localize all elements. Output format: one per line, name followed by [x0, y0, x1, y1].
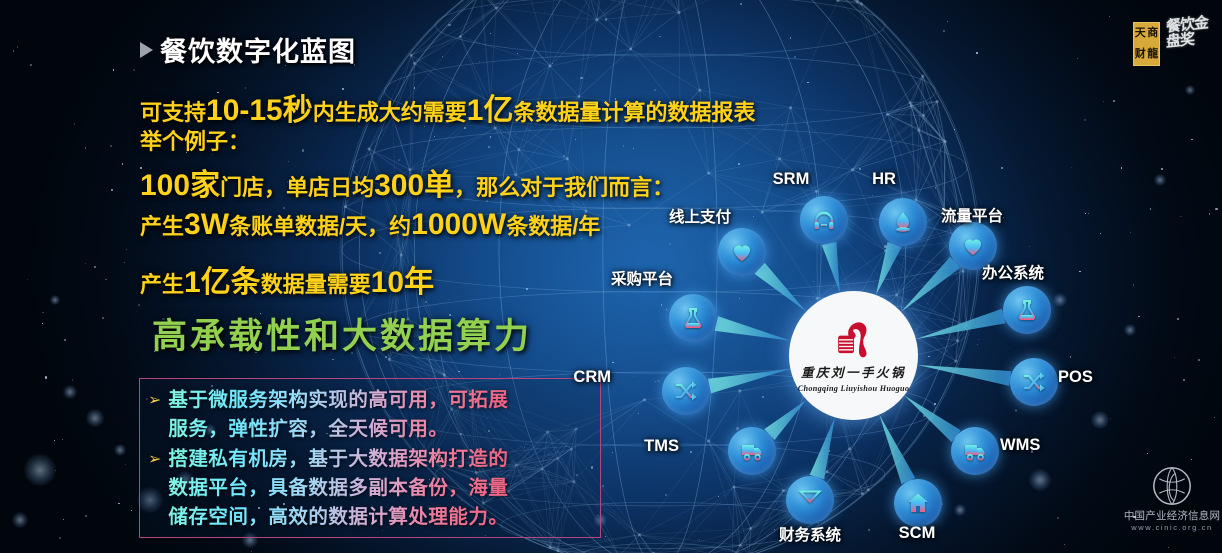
hub-name-en: Chongqing Liuyishou Huoguo: [798, 384, 910, 393]
diagram-node-hr[interactable]: [879, 198, 927, 246]
node-circle: [718, 228, 766, 276]
badge-char: 财: [1135, 49, 1146, 60]
diagram-node-线上支付[interactable]: [718, 228, 766, 276]
body-text-line: 100家门店，单店日均300单，那么对于我们而言：: [140, 160, 674, 204]
brush-calligraphy-mark: 餐饮金盘奖: [1166, 15, 1218, 73]
bullet-item: ➢基于微服务架构实现的高可用，可拓展 服务，弹性扩容，全天候可用。: [148, 386, 590, 444]
thumbs-up-logo-icon: [834, 319, 874, 359]
node-label: SRM: [773, 170, 810, 189]
text-run: 内生成大约需要: [313, 100, 467, 125]
text-run: 300: [374, 169, 424, 202]
node-label: 流量平台: [941, 204, 1003, 226]
text-run: 年: [404, 266, 434, 299]
text-run: 产生: [140, 272, 184, 297]
flame-icon: [891, 210, 915, 234]
flask-icon: [1015, 298, 1039, 322]
watermark-url: www.cinic.org.cn: [1131, 523, 1212, 532]
node-label: WMS: [1000, 436, 1040, 455]
node-label: 办公系统: [982, 261, 1044, 283]
bullet-arrow-icon: ➢: [148, 452, 161, 468]
truck-icon: [740, 439, 764, 463]
node-circle: [949, 222, 997, 270]
slide-heading: 餐饮数字化蓝图: [140, 30, 356, 69]
text-run: 产生: [140, 214, 184, 239]
node-label: SCM: [899, 524, 936, 543]
diagram-node-crm[interactable]: [662, 367, 710, 415]
text-run: 举个例子：: [140, 129, 250, 154]
hub-name-cn: 重庆刘一手火锅: [801, 362, 906, 381]
diagram-node-srm[interactable]: [800, 196, 848, 244]
text-run: 条数据/年: [506, 214, 600, 239]
text-run: 数据量需要: [261, 272, 371, 297]
text-run: 100: [140, 169, 190, 202]
node-label: 采购平台: [611, 267, 673, 289]
globe-ring-icon: [1152, 466, 1192, 506]
text-run: 条数据量计算的数据报表: [513, 100, 755, 125]
headphones-icon: [812, 208, 836, 232]
diagram-node-pos[interactable]: [1010, 358, 1058, 406]
text-run: 条账单数据/天，: [229, 214, 389, 239]
bullet-callout-box: ➢基于微服务架构实现的高可用，可拓展 服务，弹性扩容，全天候可用。➢搭建私有机房…: [139, 378, 601, 538]
house-icon: [906, 491, 930, 515]
node-label: TMS: [644, 437, 679, 456]
node-circle: [879, 198, 927, 246]
node-label: 线上支付: [669, 205, 731, 227]
text-run: 条: [231, 266, 261, 299]
diagram-node-办公系统[interactable]: [1003, 286, 1051, 334]
text-run: 单: [424, 169, 454, 202]
shuffle-icon: [674, 379, 698, 403]
body-text-line: 产生3W条账单数据/天，约1000W条数据/年: [140, 208, 600, 242]
diagram-node-财务系统[interactable]: [786, 476, 834, 524]
text-run: 10-15: [206, 94, 283, 127]
truck-icon: [963, 439, 987, 463]
diagram-node-流量平台[interactable]: [949, 222, 997, 270]
cocktail-icon: [798, 488, 822, 512]
text-run: ，那么对于我们而言：: [454, 175, 674, 200]
diagram-node-tms[interactable]: [728, 427, 776, 475]
flask-icon: [681, 306, 705, 330]
badge-char: 龍: [1147, 49, 1158, 60]
badge-char: 天: [1135, 28, 1146, 39]
node-circle: [800, 196, 848, 244]
node-circle: [894, 479, 942, 527]
green-heading: 高承载性和大数据算力: [152, 308, 532, 359]
watermark-site-name: 中国产业经济信息网: [1124, 508, 1220, 523]
node-circle: [1003, 286, 1051, 334]
node-circle: [669, 294, 717, 342]
heart-icon: [730, 240, 754, 264]
bullet-arrow-icon: ➢: [148, 393, 161, 409]
node-circle: [786, 476, 834, 524]
node-circle: [1010, 358, 1058, 406]
bullet-text: 基于微服务架构实现的高可用，可拓展 服务，弹性扩容，全天候可用。: [168, 386, 508, 444]
diagram-node-scm[interactable]: [894, 479, 942, 527]
node-circle: [728, 427, 776, 475]
text-run: 约: [389, 214, 411, 239]
text-run: 单店日均: [286, 175, 374, 200]
node-circle: [662, 367, 710, 415]
diagram-node-wms[interactable]: [951, 427, 999, 475]
text-run: 可支持: [140, 100, 206, 125]
text-run: 1亿: [467, 94, 514, 127]
text-run: 10: [371, 266, 404, 299]
diagram-node-采购平台[interactable]: [669, 294, 717, 342]
node-circle: [951, 427, 999, 475]
body-text-line: 可支持10-15秒内生成大约需要1亿条数据量计算的数据报表: [140, 85, 755, 129]
center-hub-logo: 重庆刘一手火锅 Chongqing Liuyishou Huoguo: [789, 291, 918, 420]
shuffle-icon: [1022, 370, 1046, 394]
heading-text: 餐饮数字化蓝图: [160, 30, 356, 69]
node-label: 财务系统: [779, 523, 841, 545]
text-run: 3W: [184, 208, 229, 241]
gold-badge: 天商财龍: [1133, 22, 1160, 66]
slide-canvas: 餐饮数字化蓝图 可支持10-15秒内生成大约需要1亿条数据量计算的数据报表举个例…: [0, 0, 1222, 553]
node-label: POS: [1058, 368, 1093, 387]
site-watermark: 中国产业经济信息网 www.cinic.org.cn: [1124, 466, 1220, 532]
bullet-text: 搭建私有机房，基于大数据架构打造的 数据平台，具备数据多副本备份，海量 储存空间…: [168, 445, 508, 532]
badge-char: 商: [1147, 28, 1158, 39]
text-run: 1000W: [411, 208, 506, 241]
body-text-line: 举个例子：: [140, 124, 250, 156]
text-run: 家: [190, 169, 220, 202]
bullet-item: ➢搭建私有机房，基于大数据架构打造的 数据平台，具备数据多副本备份，海量 储存空…: [148, 445, 590, 532]
play-triangle-icon: [140, 42, 153, 58]
node-label: HR: [872, 170, 896, 189]
text-run: 1亿: [184, 266, 231, 299]
body-text-line: 产生1亿条数据量需要10年: [140, 257, 434, 301]
text-run: 门店，: [220, 175, 286, 200]
heart-icon: [961, 234, 985, 258]
text-run: 秒: [283, 94, 313, 127]
